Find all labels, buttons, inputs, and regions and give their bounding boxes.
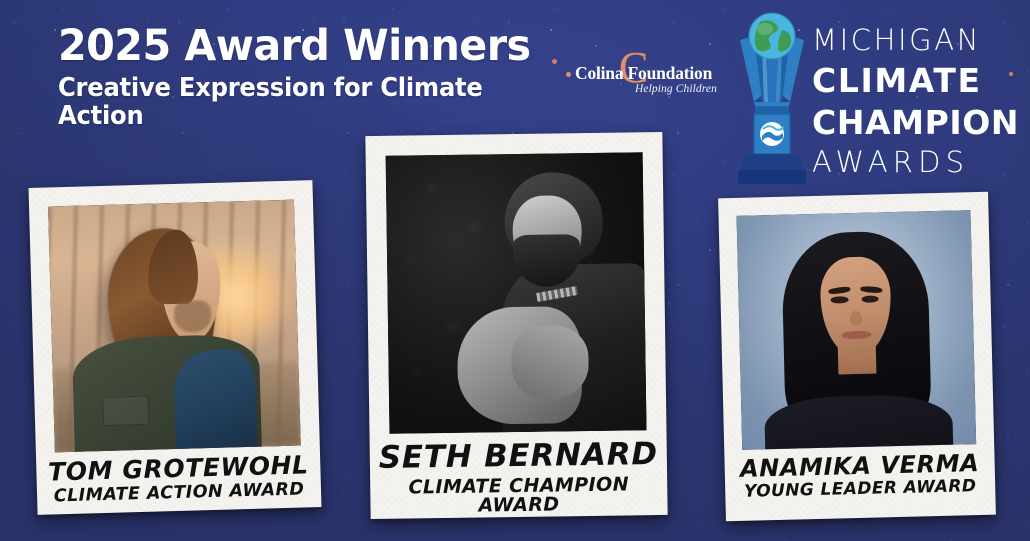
winner-card-seth-bernard: Seth Bernard Climate Champion Award [365,132,667,519]
winner-card-tom-grotewohl: Tom Grotewohl Climate Action Award [28,180,321,515]
colina-logo-tagline: Helping Children [635,83,717,95]
winner-caption-seth-bernard: Seth Bernard Climate Champion Award [370,439,668,517]
headline-primary: 2025 Award Winners [58,24,557,70]
winner-photo-seth-bernard [386,152,647,434]
page-title: 2025 Award Winners Creative Expression f… [58,24,578,131]
logo-line-climate: CLIMATE [812,64,1019,97]
winner-photo-tom-grotewohl [48,200,301,453]
globe-trophy-icon [724,6,820,184]
winner-award: Climate Champion Award [370,475,668,518]
winner-card-anamika-verma: Anamika Verma Young Leader Award [718,192,996,522]
logo-line-awards: AWARDS [812,148,1019,177]
logo-line-champion: CHAMPION [812,106,1019,139]
colina-foundation-logo: C Colina Foundation Helping Children [563,52,718,107]
colina-logo-name: Colina Foundation [575,63,712,84]
winner-name: Seth Bernard [370,439,667,475]
winner-caption-anamika-verma: Anamika Verma Young Leader Award [724,451,995,502]
poster-canvas: 2025 Award Winners Creative Expression f… [0,0,1030,541]
winner-photo-anamika-verma [737,210,977,450]
logo-line-michigan: MICHIGAN [812,26,1019,55]
winner-award: Young Leader Award [725,478,995,502]
winner-caption-tom-grotewohl: Tom Grotewohl Climate Action Award [36,452,321,506]
diamond-bullet-icon [566,72,571,77]
headline-secondary: Creative Expression for Climate Action [58,74,552,131]
michigan-climate-champion-awards-logo: MICHIGAN CLIMATE CHAMPION AWARDS [726,4,1026,182]
